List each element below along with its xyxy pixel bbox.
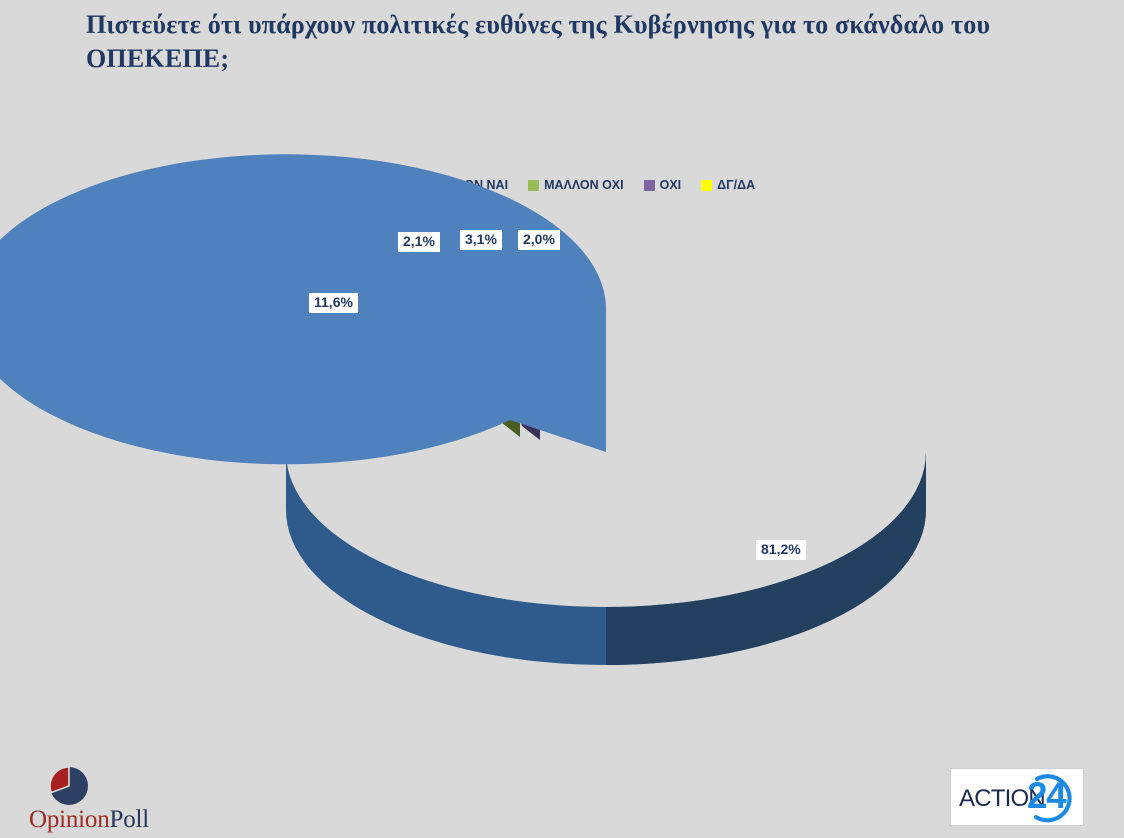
- pie-slice-mallon-oxi-top: [419, 261, 520, 415]
- pie-slice-oxi[interactable]: [466, 257, 540, 440]
- legend-square-icon: [355, 180, 366, 191]
- pie-slice-oxi-top: [466, 257, 540, 420]
- legend-item-label: ΜΑΛΛΟΝ ΟΧΙ: [544, 178, 624, 192]
- data-label-oxi: 3,1%: [460, 230, 502, 250]
- data-label-nai: 81,2%: [756, 540, 806, 560]
- pie-slice-dgda[interactable]: [531, 255, 556, 422]
- pie-circle-mark-icon: [46, 764, 92, 808]
- pie-slice-dgda-side: [531, 255, 556, 422]
- legend-item-label: ΔΓ/ΔΑ: [717, 178, 755, 192]
- legend-square-icon: [644, 180, 655, 191]
- data-label-dgda: 2,0%: [518, 230, 560, 250]
- legend-square-icon: [528, 180, 539, 191]
- opinionpoll-word-poll: Poll: [110, 806, 150, 833]
- legend-item-mallon-oxi[interactable]: ΜΑΛΛΟΝ ΟΧΙ: [528, 178, 624, 192]
- page-title: Πιστεύετε ότι υπάρχουν πολιτικές ευθύνες…: [86, 8, 1016, 76]
- action24-logo: ACTION 24: [950, 768, 1084, 826]
- pie-slice-mallon-nai-side2: [253, 338, 270, 397]
- pie-slice-nai-cut-wall: [597, 305, 606, 433]
- legend-item-label: ΝΑΙ: [371, 178, 393, 192]
- legend-item-label: ΜΑΛΛΟΝ ΝΑΙ: [429, 178, 509, 192]
- legend-square-icon: [413, 180, 424, 191]
- pie-slice-mallon-nai-side: [253, 338, 500, 397]
- data-label-mallon-nai: 11,6%: [309, 293, 358, 313]
- chart-legend: ΝΑΙ ΜΑΛΛΟΝ ΝΑΙ ΜΑΛΛΟΝ ΟΧΙ ΟΧΙ ΔΓ/ΔΑ: [355, 178, 755, 192]
- pie-slice-dgda-top: [531, 255, 556, 410]
- legend-item-mallon-nai[interactable]: ΜΑΛΛΟΝ ΝΑΙ: [413, 178, 509, 192]
- pie-slice-oxi-side: [466, 259, 540, 440]
- pie-chart: [0, 0, 1124, 838]
- pie-slice-mallon-oxi-side: [419, 267, 520, 437]
- pie-slice-mallon-oxi[interactable]: [419, 261, 520, 437]
- opinionpoll-word-opinion: Opinion: [29, 806, 110, 833]
- opinionpoll-logo: OpinionPoll: [14, 762, 164, 834]
- legend-item-oxi[interactable]: ΟΧΙ: [644, 178, 682, 192]
- pie-slice-nai-side: [286, 452, 926, 665]
- action24-number: 24: [1027, 775, 1065, 817]
- legend-square-icon: [701, 180, 712, 191]
- opinionpoll-wordmark: OpinionPoll: [14, 806, 164, 834]
- legend-item-dgda[interactable]: ΔΓ/ΔΑ: [701, 178, 755, 192]
- pie-slice-mallon-nai-top: [253, 268, 500, 374]
- pie-slice-nai-top: [0, 154, 606, 464]
- legend-item-nai[interactable]: ΝΑΙ: [355, 178, 393, 192]
- pie-chart-svg: [0, 0, 1124, 838]
- data-label-mallon-oxi: 2,1%: [398, 232, 440, 252]
- legend-item-label: ΟΧΙ: [660, 178, 682, 192]
- pie-slice-mallon-nai[interactable]: [253, 268, 500, 397]
